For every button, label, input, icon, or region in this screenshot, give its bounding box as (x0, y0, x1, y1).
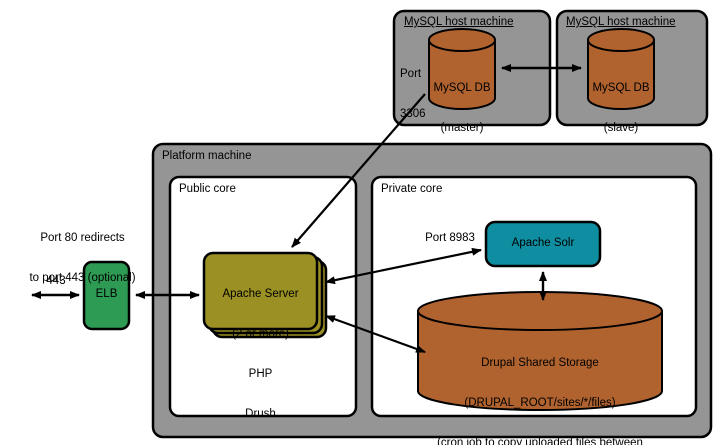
annotation-port-80-line-2: to port 443 (optional) (15, 272, 150, 285)
label-port-3306-line-1: Port (400, 68, 426, 81)
label-mysql-host-slave: MySQL host machine (566, 16, 676, 29)
label-mysql-db-slave: MySQL DB (slave) (588, 55, 654, 162)
annotation-port-80-line-1: Port 80 redirects (15, 232, 150, 245)
label-port-443: 443 (38, 275, 74, 288)
label-mysql-db-master: MySQL DB (master) (429, 55, 495, 162)
label-apache-solr: Apache Solr (486, 237, 600, 250)
label-apache-server-line-4: Drush (204, 408, 317, 421)
label-mysql-db-master-line-2: (master) (429, 122, 495, 135)
label-port-3306: Port 3306 (400, 41, 426, 148)
label-mysql-db-slave-line-2: (slave) (588, 122, 654, 135)
label-shared-storage-line-2: (DRUPAL_ROOT/sites/*/files) (418, 397, 662, 410)
label-port-3306-line-2: 3306 (400, 108, 426, 121)
label-mysql-db-slave-line-1: MySQL DB (588, 82, 654, 95)
annotation-port-80-redirect: Port 80 redirects to port 443 (optional) (15, 205, 150, 312)
label-shared-storage-line-3: (cron job to copy uploaded files between (418, 437, 662, 445)
label-apache-server-line-2: (2 or more) (204, 328, 317, 341)
label-apache-server-line-1: Apache Server (204, 288, 317, 301)
label-apache-server: Apache Server (2 or more) PHP Drush (204, 261, 317, 445)
label-public-core: Public core (179, 183, 236, 196)
label-platform-machine: Platform machine (162, 150, 251, 163)
label-shared-storage-line-1: Drupal Shared Storage (418, 357, 662, 370)
label-mysql-db-master-line-1: MySQL DB (429, 82, 495, 95)
label-private-core: Private core (381, 183, 442, 196)
architecture-diagram: MySQL host machine MySQL host machine Pl… (0, 0, 723, 445)
label-mysql-host-master: MySQL host machine (404, 16, 514, 29)
label-apache-server-line-3: PHP (204, 368, 317, 381)
label-port-8983: Port 8983 (418, 232, 482, 245)
label-drupal-shared-storage: Drupal Shared Storage (DRUPAL_ROOT/sites… (418, 330, 662, 445)
